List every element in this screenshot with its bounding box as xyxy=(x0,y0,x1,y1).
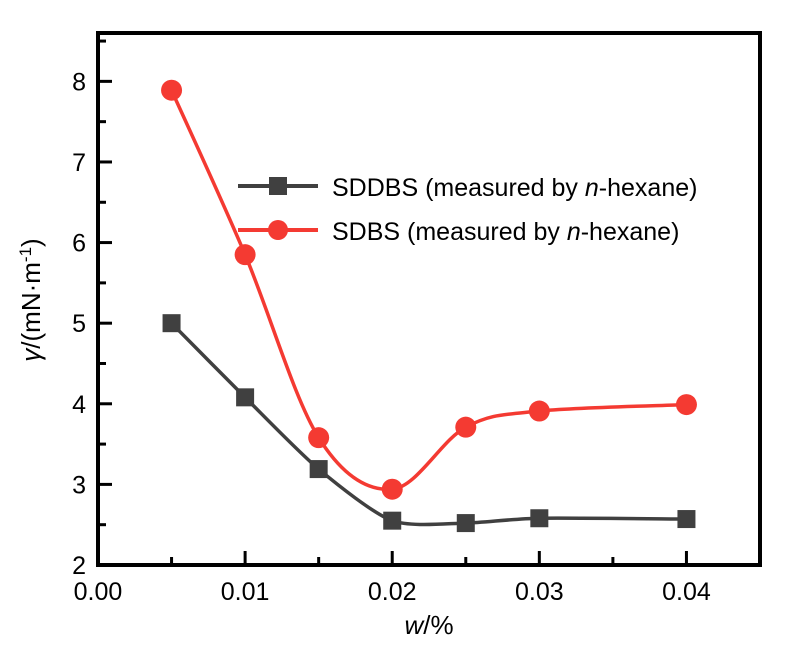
y-tick-label: 4 xyxy=(72,391,86,419)
legend-marker-circle xyxy=(268,220,288,240)
y-tick-label: 8 xyxy=(72,68,86,96)
legend-label-sddbs: SDDBS (measured by n-hexane) xyxy=(332,174,697,202)
plot-frame xyxy=(98,33,760,565)
data-point-circle xyxy=(235,244,256,265)
y-tick-label: 3 xyxy=(72,471,86,499)
data-point-square xyxy=(163,314,181,332)
data-point-circle xyxy=(455,417,476,438)
data-point-circle xyxy=(529,401,550,422)
y-tick-label: 7 xyxy=(72,149,86,177)
y-tick-label: 5 xyxy=(72,310,86,338)
y-tick-label: 6 xyxy=(72,230,86,258)
y-axis-title: γ/(mN·m-1) xyxy=(16,238,47,361)
legend-marker-square xyxy=(269,177,287,195)
x-tick-label: 0.01 xyxy=(221,578,270,606)
data-point-circle xyxy=(676,394,697,415)
line-chart: 0.000.010.020.030.04 2345678 SDDBS (meas… xyxy=(0,0,800,657)
x-axis-title: w/% xyxy=(404,610,453,640)
data-point-square xyxy=(677,510,695,528)
y-tick-label: 2 xyxy=(72,552,86,580)
chart-figure: 0.000.010.020.030.04 2345678 SDDBS (meas… xyxy=(0,0,800,657)
data-point-circle xyxy=(161,80,182,101)
x-tick-label: 0.03 xyxy=(515,578,564,606)
data-point-square xyxy=(310,460,328,478)
x-tick-label: 0.02 xyxy=(368,578,417,606)
data-point-circle xyxy=(382,479,403,500)
data-point-square xyxy=(457,514,475,532)
legend-label-sdbs: SDBS (measured by n-hexane) xyxy=(332,218,679,246)
data-point-square xyxy=(236,388,254,406)
data-point-square xyxy=(530,509,548,527)
x-tick-label: 0.00 xyxy=(74,578,123,606)
data-point-circle xyxy=(308,427,329,448)
x-tick-label: 0.04 xyxy=(662,578,711,606)
data-point-square xyxy=(383,512,401,530)
